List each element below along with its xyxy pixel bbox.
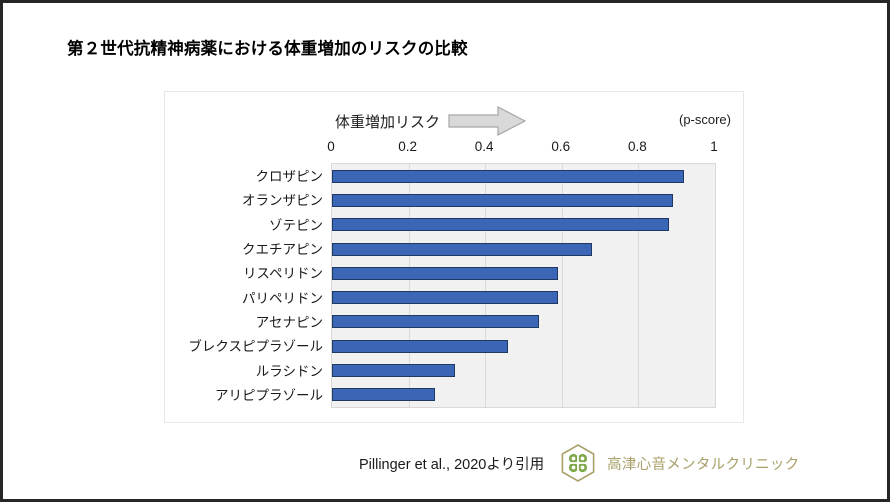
category-label: ブレクスピプラゾール [188, 333, 323, 357]
x-tick-label: 1 [710, 139, 718, 154]
chart-container: 体重増加リスク (p-score) 00.20.40.60.81 クロザピンオラ… [164, 91, 744, 423]
bar-slot [332, 286, 715, 310]
x-axis-tick-labels: 00.20.40.60.81 [330, 139, 720, 157]
bar-slot [332, 334, 715, 358]
bar-slot [332, 188, 715, 212]
category-label: アリピプラゾール [215, 382, 323, 406]
bar-slot [332, 237, 715, 261]
plot-area [331, 163, 716, 408]
category-label: オランザピン [242, 187, 323, 211]
bar [332, 388, 435, 401]
bar [332, 364, 455, 377]
bar [332, 315, 539, 328]
slide: 第２世代抗精神病薬における体重増加のリスクの比較 体重増加リスク (p-scor… [0, 0, 890, 502]
bar [332, 170, 684, 183]
category-label: ゾテピン [269, 212, 323, 236]
pscore-axis-label: (p-score) [679, 112, 731, 127]
risk-banner-label: 体重増加リスク [335, 111, 440, 132]
page-title: 第２世代抗精神病薬における体重増加のリスクの比較 [67, 35, 468, 59]
x-tick-label: 0.8 [628, 139, 647, 154]
category-label: アセナピン [256, 309, 323, 333]
bar [332, 194, 673, 207]
category-label: ルラシドン [256, 357, 323, 381]
bar-slot [332, 310, 715, 334]
x-tick-label: 0.2 [398, 139, 417, 154]
bar-slot [332, 164, 715, 188]
clinic-name: 高津心音メンタルクリニック [607, 453, 799, 474]
bar [332, 243, 592, 256]
bar [332, 218, 669, 231]
hexagon-clover-logo-icon [558, 443, 598, 483]
footer: Pillinger et al., 2020より引用 [359, 443, 799, 483]
bar-slot [332, 261, 715, 285]
category-label: クロザピン [256, 163, 324, 187]
gridline [715, 164, 716, 407]
x-tick-label: 0.6 [551, 139, 570, 154]
right-block-arrow-icon [448, 106, 526, 136]
category-label: クエチアピン [242, 236, 323, 260]
citation-text: Pillinger et al., 2020より引用 [359, 453, 544, 474]
x-tick-label: 0 [327, 139, 335, 154]
category-label: パリペリドン [242, 285, 323, 309]
bar [332, 291, 558, 304]
risk-direction-banner: 体重増加リスク [335, 106, 526, 136]
bar-slot [332, 213, 715, 237]
clinic-logo: 高津心音メンタルクリニック [558, 443, 799, 483]
category-label: リスペリドン [243, 260, 323, 284]
bar [332, 267, 558, 280]
y-axis-category-labels: クロザピンオランザピンゾテピンクエチアピンリスペリドンパリペリドンアセナピンブレ… [164, 163, 331, 408]
bar-slot [332, 358, 715, 382]
bar-slot [332, 383, 715, 407]
bar-series [332, 164, 715, 407]
x-tick-label: 0.4 [475, 139, 494, 154]
bar [332, 340, 508, 353]
